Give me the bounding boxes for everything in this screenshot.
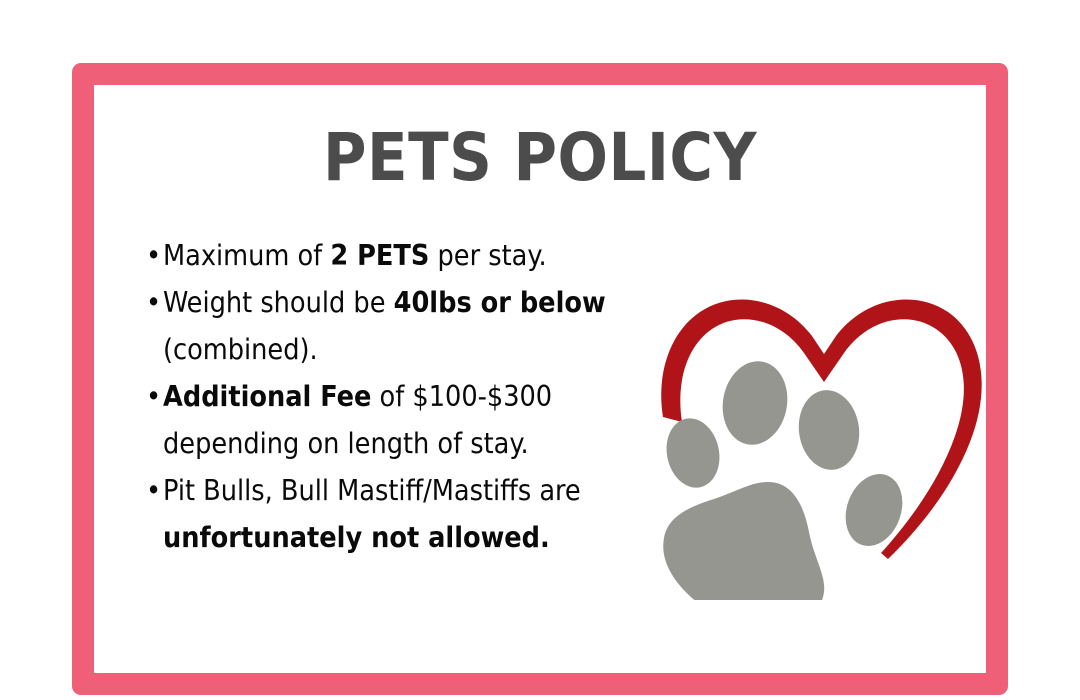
bullet-marker-icon: • [146, 279, 163, 326]
poster-frame: PETS POLICY • Maximum of 2 PETS per stay… [72, 63, 1008, 695]
page-title: PETS POLICY [94, 125, 986, 191]
paw-print-icon [660, 356, 912, 600]
policy-bullet-list: • Maximum of 2 PETS per stay. • Weight s… [146, 232, 666, 561]
list-item-text: Maximum of 2 PETS per stay. [163, 232, 666, 279]
list-item: • Weight should be 40lbs or below (combi… [146, 279, 666, 373]
list-item-text: Weight should be 40lbs or below (combine… [163, 279, 666, 373]
pets-policy-poster: PETS POLICY • Maximum of 2 PETS per stay… [0, 0, 1080, 700]
bullet-marker-icon: • [146, 373, 163, 420]
bullet-marker-icon: • [146, 232, 163, 279]
list-item: • Additional Fee of $100-$300 depending … [146, 373, 666, 467]
list-item: • Maximum of 2 PETS per stay. [146, 232, 666, 279]
bullet-marker-icon: • [146, 467, 163, 514]
heart-paw-icon [652, 270, 992, 600]
list-item: • Pit Bulls, Bull Mastiff/Mastiffs are u… [146, 467, 666, 561]
poster-frame-inner: PETS POLICY • Maximum of 2 PETS per stay… [94, 85, 986, 673]
list-item-text: Pit Bulls, Bull Mastiff/Mastiffs are unf… [163, 467, 666, 561]
list-item-text: Additional Fee of $100-$300 depending on… [163, 373, 666, 467]
heart-paw-logo [652, 270, 992, 600]
